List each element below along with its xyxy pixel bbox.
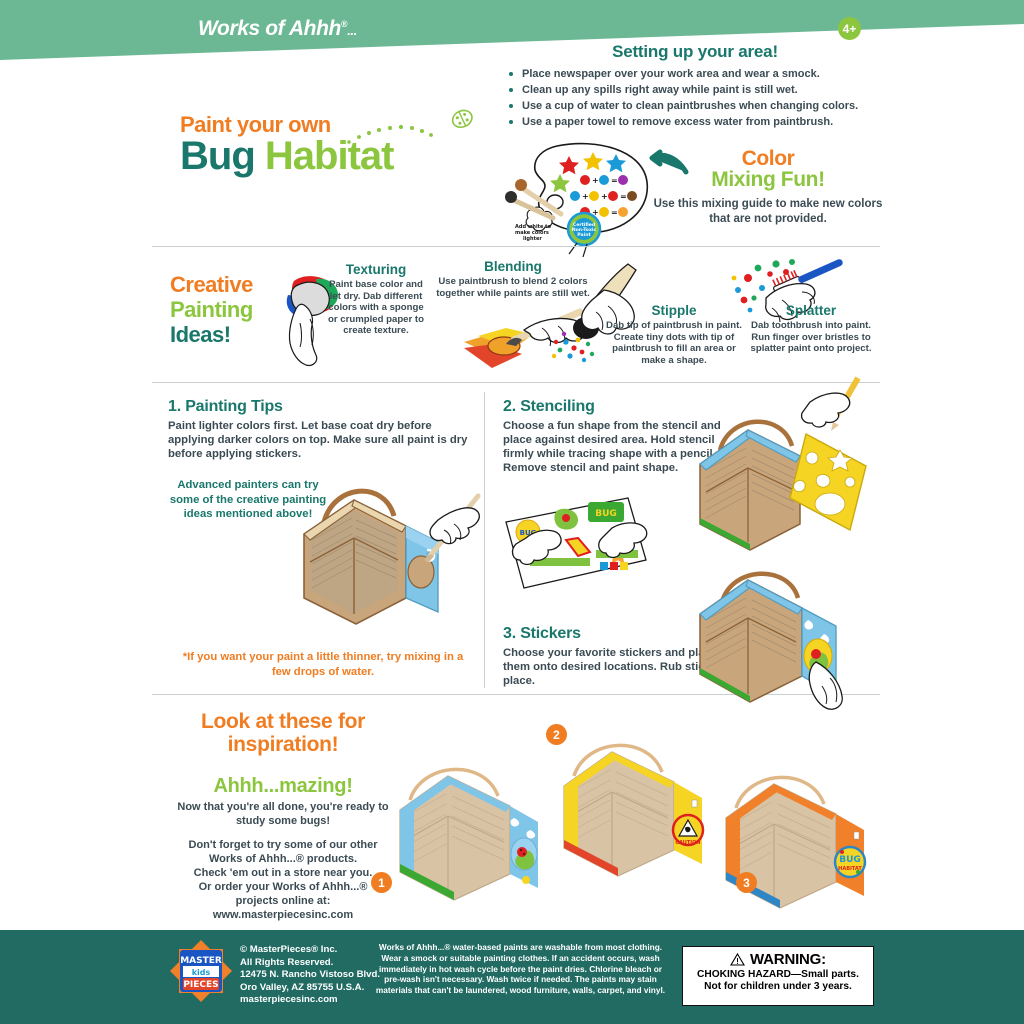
- technique-name: Texturing: [328, 262, 424, 277]
- technique-name: Splatter: [748, 303, 874, 318]
- paint-care-info: Works of Ahhh...® water-based paints are…: [373, 942, 668, 996]
- inspiration-heading-line1: Look at these for: [201, 710, 365, 733]
- sample-number-badge-3: 3: [736, 872, 757, 893]
- age-badge: 4+: [838, 17, 861, 40]
- inspiration-heading: Look at these for inspiration!: [168, 710, 398, 756]
- warning-triangle-icon: [730, 953, 745, 966]
- list-item: Clean up any spills right away while pai…: [509, 83, 881, 97]
- brand-logo-text: Works of Ahhh: [198, 17, 341, 40]
- sample-number-badge-2: 2: [546, 724, 567, 745]
- more-line-4: Or order your Works of Ahhh...®: [199, 881, 368, 893]
- step-text: Paint lighter colors first. Let base coa…: [168, 419, 468, 461]
- technique-stipple: Stipple Dab tip of paintbrush in paint. …: [604, 303, 744, 366]
- list-item: Use a paper towel to remove excess water…: [509, 115, 881, 129]
- sample-habitat-1: [392, 752, 542, 902]
- sample-habitat-2: CAUTION: [556, 728, 706, 878]
- svg-text:=: =: [611, 208, 618, 217]
- creative-title-line3: Ideas!: [170, 322, 231, 347]
- footer-copyright: © MasterPieces® Inc. All Rights Reserved…: [240, 944, 380, 1007]
- svg-text:=: =: [611, 176, 618, 185]
- technique-splatter: Splatter Dab toothbrush into paint. Run …: [748, 303, 874, 355]
- copyright-line-2: All Rights Reserved.: [240, 957, 380, 970]
- habitat-painting-illustration: [288, 462, 480, 642]
- svg-text:CAUTION: CAUTION: [675, 840, 700, 846]
- technique-text: Dab toothbrush into paint. Run finger ov…: [748, 320, 874, 355]
- divider-2: [152, 382, 880, 383]
- technique-text: Dab tip of paintbrush in paint. Create t…: [604, 320, 744, 366]
- masterpieces-logo: MASTER kids PIECES: [170, 940, 232, 1002]
- svg-text:BUG: BUG: [839, 855, 861, 865]
- more-line-2: Works of Ahhh...® products.: [209, 853, 357, 865]
- technique-text: Paint base color and let dry. Dab differ…: [328, 279, 424, 337]
- warning-header: WARNING:: [683, 951, 873, 968]
- sample-number-badge-1: 1: [371, 872, 392, 893]
- copyright-line-4: Oro Valley, AZ 85755 U.S.A.: [240, 982, 380, 995]
- footer-website[interactable]: masterpiecesinc.com: [240, 994, 380, 1007]
- creative-title-line2: Painting: [170, 297, 253, 322]
- step-1-painting-tips: 1. Painting Tips Paint lighter colors fi…: [168, 398, 468, 461]
- ahhh-subtitle: Now that you're all done, you're ready t…: [163, 800, 403, 828]
- step-heading: 1. Painting Tips: [168, 398, 468, 416]
- list-item: Use a cup of water to clean paintbrushes…: [509, 99, 881, 113]
- divider-1: [152, 246, 880, 247]
- svg-text:+: +: [601, 192, 608, 201]
- svg-text:=: =: [620, 192, 627, 201]
- sticker-sheet-illustration: BUG BUG: [500, 492, 680, 602]
- product-instruction-sheet: Works of Ahhh®... 4+ Setting up your are…: [0, 0, 1024, 1024]
- svg-text:kids: kids: [192, 968, 211, 977]
- color-mixing-title-line1: Color: [742, 147, 795, 170]
- svg-text:lighter: lighter: [523, 236, 542, 242]
- brand-logo-dots: ...: [347, 23, 357, 38]
- color-mixing-subtitle: Use this mixing guide to make new colors…: [648, 197, 888, 227]
- color-mixing-section: Color Mixing Fun! Use this mixing guide …: [648, 148, 888, 227]
- title-word-bug: Bug: [180, 134, 255, 178]
- paint-palette-illustration: + = + + = + = Add white to make colors l…: [505, 140, 665, 245]
- technique-texturing: Texturing Paint base color and let dry. …: [328, 262, 424, 337]
- technique-name: Stipple: [604, 303, 744, 318]
- inspiration-heading-line2: inspiration!: [228, 733, 339, 756]
- color-mixing-title: Color Mixing Fun!: [648, 148, 888, 190]
- svg-text:BUG: BUG: [595, 509, 617, 519]
- warning-line-2: CHOKING HAZARD—Small parts.: [683, 969, 873, 981]
- color-mixing-title-line2: Mixing Fun!: [711, 168, 824, 191]
- svg-text:+: +: [582, 192, 589, 201]
- more-line-1: Don't forget to try some of our other: [189, 839, 378, 851]
- thinner-note: *If you want your paint a little thinner…: [178, 650, 468, 679]
- creative-painting-title: Creative Painting Ideas!: [170, 272, 300, 347]
- website-url[interactable]: www.masterpiecesinc.com: [213, 909, 353, 921]
- setup-bullet-list: Place newspaper over your work area and …: [509, 67, 881, 129]
- sticker-application-illustration: [690, 556, 876, 716]
- more-line-5: projects online at:: [236, 895, 331, 907]
- list-item: Place newspaper over your work area and …: [509, 67, 881, 81]
- svg-text:PIECES: PIECES: [183, 980, 218, 990]
- setup-area-section: Setting up your area! Place newspaper ov…: [509, 42, 881, 131]
- copyright-line-1: © MasterPieces® Inc.: [240, 944, 380, 957]
- creative-title-line1: Creative: [170, 272, 253, 297]
- setup-heading: Setting up your area!: [509, 42, 881, 62]
- warning-title: WARNING:: [750, 951, 826, 968]
- warning-line-3: Not for children under 3 years.: [683, 981, 873, 993]
- ahhh-mazing-title: Ahhh...mazing!: [168, 775, 398, 798]
- divider-vertical: [484, 392, 485, 688]
- svg-text:Paint: Paint: [577, 232, 591, 238]
- more-line-3: Check 'em out in a store near you.: [194, 867, 373, 879]
- svg-text:MASTER: MASTER: [180, 956, 222, 966]
- brand-logo: Works of Ahhh®...: [198, 17, 357, 41]
- ladybug-trail-icon: [345, 108, 495, 150]
- stencil-on-habitat-illustration: [690, 408, 880, 568]
- svg-text:+: +: [592, 176, 599, 185]
- copyright-line-3: 12475 N. Rancho Vistoso Blvd.: [240, 969, 380, 982]
- warning-box: WARNING: CHOKING HAZARD—Small parts. Not…: [682, 946, 874, 1006]
